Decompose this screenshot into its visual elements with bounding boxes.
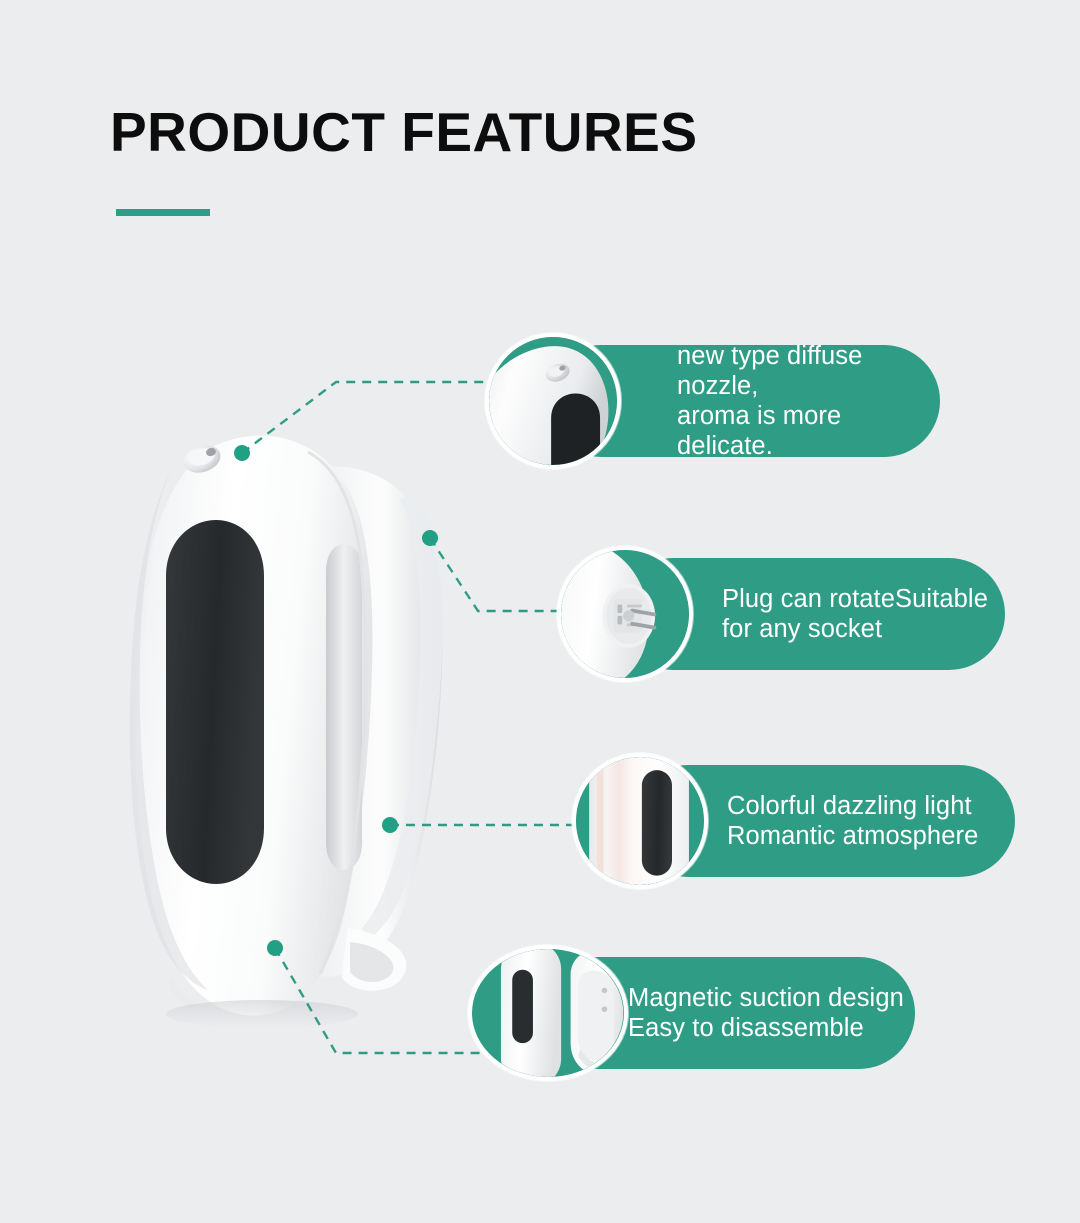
feature-callout-light: Colorful dazzling light Romantic atmosph… [572, 753, 1015, 893]
title-underline-rule [116, 209, 210, 216]
page-title: PRODUCT FEATURES [110, 105, 698, 160]
colorful-light-closeup-thumbnail [572, 753, 708, 889]
feature-text-plug: Plug can rotateSuitable for any socket [722, 584, 988, 644]
feature-callout-plug: Plug can rotateSuitable for any socket [557, 546, 1005, 686]
feature-text-light: Colorful dazzling light Romantic atmosph… [727, 791, 978, 851]
feature-callout-nozzle: new type diffuse nozzle, aroma is more d… [485, 333, 940, 473]
nozzle-closeup-thumbnail [485, 333, 621, 469]
feature-callout-magnetic: Magnetic suction design Easy to disassem… [468, 945, 915, 1085]
feature-text-magnetic: Magnetic suction design Easy to disassem… [628, 983, 904, 1043]
magnetic-parts-closeup-thumbnail [468, 945, 628, 1081]
rotating-plug-closeup-thumbnail [557, 546, 693, 682]
product-features-page: PRODUCT FEATURES [0, 0, 1080, 1223]
product-main-image [112, 408, 492, 1048]
feature-text-nozzle: new type diffuse nozzle, aroma is more d… [677, 341, 940, 461]
